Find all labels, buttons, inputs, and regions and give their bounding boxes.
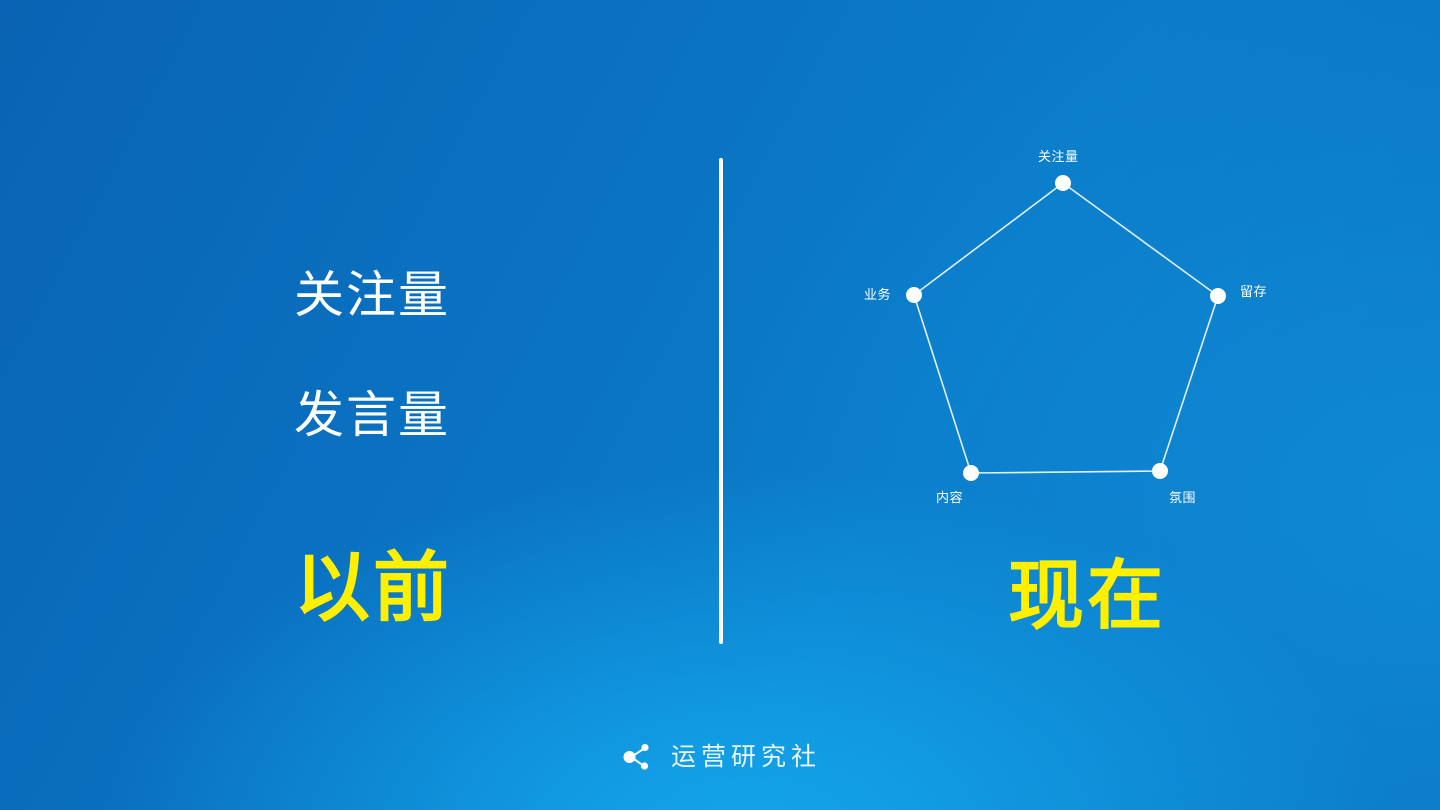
radar-node-retention[interactable]: [1210, 288, 1226, 304]
metric-label-attention: 关注量: [294, 270, 450, 320]
radar-node-atmosphere[interactable]: [1152, 463, 1168, 479]
footer-brand: 运营研究社: [0, 740, 1440, 774]
radar-node-content[interactable]: [963, 465, 979, 481]
caption-before: 以前: [294, 551, 452, 627]
left-panel: 关注量 发言量 以前: [0, 0, 720, 810]
slide-canvas: 关注量 发言量 以前 关注量 留存 氛围 内容 业务 现在 运营研: [0, 0, 1440, 810]
radar-label-retention: 留存: [1240, 285, 1267, 298]
radar-label-content: 内容: [936, 491, 963, 504]
radar-node-attention[interactable]: [1055, 175, 1071, 191]
radar-label-atmosphere: 氛围: [1169, 491, 1196, 504]
caption-now: 现在: [1008, 559, 1166, 635]
radar-chart-svg: [840, 130, 1310, 530]
radar-node-business[interactable]: [906, 287, 922, 303]
share-network-icon: [619, 740, 653, 774]
radar-chart: 关注量 留存 氛围 内容 业务: [840, 130, 1310, 530]
metric-label-messages: 发言量: [294, 390, 450, 440]
footer-brand-text: 运营研究社: [671, 745, 821, 770]
radar-polygon: [914, 183, 1218, 473]
vertical-divider: [719, 158, 723, 644]
radar-label-business: 业务: [864, 288, 891, 301]
radar-label-attention: 关注量: [1038, 150, 1079, 163]
